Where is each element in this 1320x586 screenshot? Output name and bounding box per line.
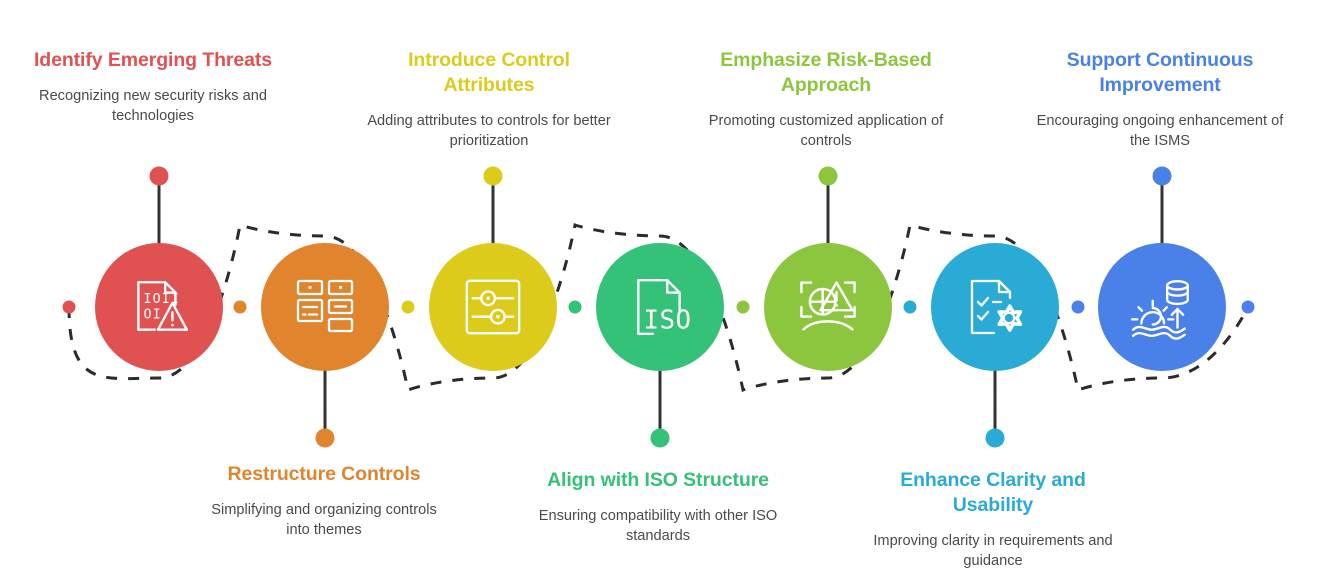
step-circle-4[interactable]: ISO (596, 243, 724, 371)
stem-line-6 (994, 366, 997, 438)
step-label-6: Enhance Clarity and UsabilityImproving c… (868, 468, 1118, 572)
step-description-6: Improving clarity in requirements and gu… (868, 531, 1118, 572)
step-circle-5[interactable] (764, 243, 892, 371)
binary-document-warning-icon: IOII OI (126, 274, 192, 340)
path-dot-end (1242, 301, 1255, 314)
step-description-4: Ensuring compatibility with other ISO st… (533, 506, 783, 547)
step-description-2: Simplifying and organizing controls into… (199, 500, 449, 541)
step-title-5: Emphasize Risk-Based Approach (701, 48, 951, 98)
step-title-6: Enhance Clarity and Usability (868, 468, 1118, 518)
step-title-3: Introduce Control Attributes (364, 48, 614, 98)
stem-line-4 (659, 366, 662, 438)
infographic-root: IOII OI (0, 0, 1320, 586)
step-title-1: Identify Emerging Threats (28, 48, 278, 73)
step-title-4: Align with ISO Structure (533, 468, 783, 493)
stem-dot-7 (1153, 167, 1172, 186)
stem-line-5 (827, 176, 830, 248)
step-label-4: Align with ISO StructureEnsuring compati… (533, 468, 783, 547)
card-grid-layout-icon (293, 275, 357, 339)
path-dot-4 (737, 301, 750, 314)
stem-line-2 (324, 366, 327, 438)
stem-dot-2 (316, 429, 335, 448)
svg-text:ISO: ISO (644, 306, 692, 336)
path-dot-start (63, 301, 76, 314)
step-label-5: Emphasize Risk-Based ApproachPromoting c… (701, 48, 951, 152)
stem-line-1 (158, 176, 161, 248)
step-label-2: Restructure ControlsSimplifying and orga… (199, 462, 449, 541)
path-dot-6 (1072, 301, 1085, 314)
iso-document-icon: ISO (627, 274, 693, 340)
svg-text:OI: OI (144, 307, 162, 322)
risk-scan-warning-icon (794, 273, 862, 341)
step-title-7: Support Continuous Improvement (1035, 48, 1285, 98)
stem-dot-6 (986, 429, 1005, 448)
data-improvement-wave-icon (1129, 274, 1195, 340)
step-description-5: Promoting customized application of cont… (701, 111, 951, 152)
step-label-1: Identify Emerging ThreatsRecognizing new… (28, 48, 278, 127)
stem-dot-1 (150, 167, 169, 186)
step-description-3: Adding attributes to controls for better… (364, 111, 614, 152)
path-dot-3 (569, 301, 582, 314)
step-circle-7[interactable] (1098, 243, 1226, 371)
step-label-7: Support Continuous ImprovementEncouragin… (1035, 48, 1285, 152)
stem-dot-4 (651, 429, 670, 448)
step-circle-6[interactable] (931, 243, 1059, 371)
step-circle-3[interactable] (429, 243, 557, 371)
path-dot-1 (234, 301, 247, 314)
stem-dot-5 (819, 167, 838, 186)
step-label-3: Introduce Control AttributesAdding attri… (364, 48, 614, 152)
step-circle-2[interactable] (261, 243, 389, 371)
path-dot-2 (402, 301, 415, 314)
checklist-gear-icon (963, 275, 1027, 339)
step-description-1: Recognizing new security risks and techn… (28, 86, 278, 127)
step-description-7: Encouraging ongoing enhancement of the I… (1035, 111, 1285, 152)
settings-sliders-icon (462, 276, 524, 338)
path-dot-5 (904, 301, 917, 314)
step-circle-1[interactable]: IOII OI (95, 243, 223, 371)
stem-line-3 (492, 176, 495, 248)
stem-dot-3 (484, 167, 503, 186)
stem-line-7 (1161, 176, 1164, 248)
step-title-2: Restructure Controls (199, 462, 449, 487)
